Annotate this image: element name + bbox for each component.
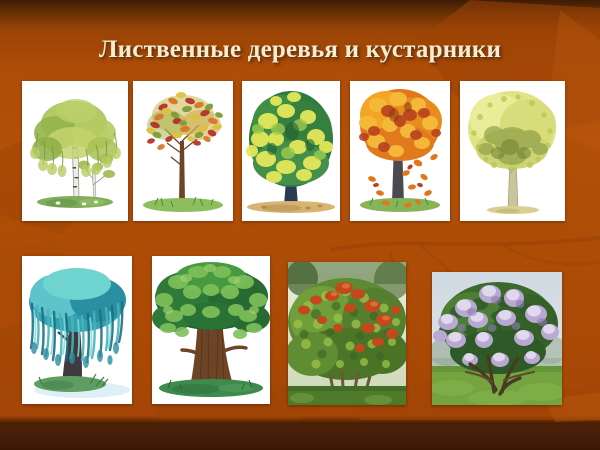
gallery-item-weeping-willow[interactable] xyxy=(22,256,132,404)
gallery-item-linden[interactable] xyxy=(242,81,340,221)
slide-title: Лиственные деревья и кустарники xyxy=(0,36,600,64)
rowan-shrub-photo-image xyxy=(288,262,406,405)
weeping-willow-image xyxy=(22,256,132,404)
gallery-item-birch[interactable] xyxy=(22,81,128,221)
birch-image xyxy=(22,81,128,221)
gallery-item-elm[interactable] xyxy=(460,81,565,221)
gallery-item-oak[interactable] xyxy=(152,256,270,404)
oak-image xyxy=(152,256,270,404)
gallery-item-rowan-shrub-photo[interactable] xyxy=(288,262,406,405)
slide: Лиственные деревья и кустарники xyxy=(0,0,600,450)
linden-image xyxy=(242,81,340,221)
maple-autumn-image xyxy=(350,81,450,221)
rowan-autumn-image xyxy=(133,81,233,221)
lilac-photo-image xyxy=(432,272,562,405)
elm-image xyxy=(460,81,565,221)
gallery-item-lilac-photo[interactable] xyxy=(432,272,562,405)
gallery-item-maple-autumn[interactable] xyxy=(350,81,450,221)
gallery-item-rowan-autumn[interactable] xyxy=(133,81,233,221)
